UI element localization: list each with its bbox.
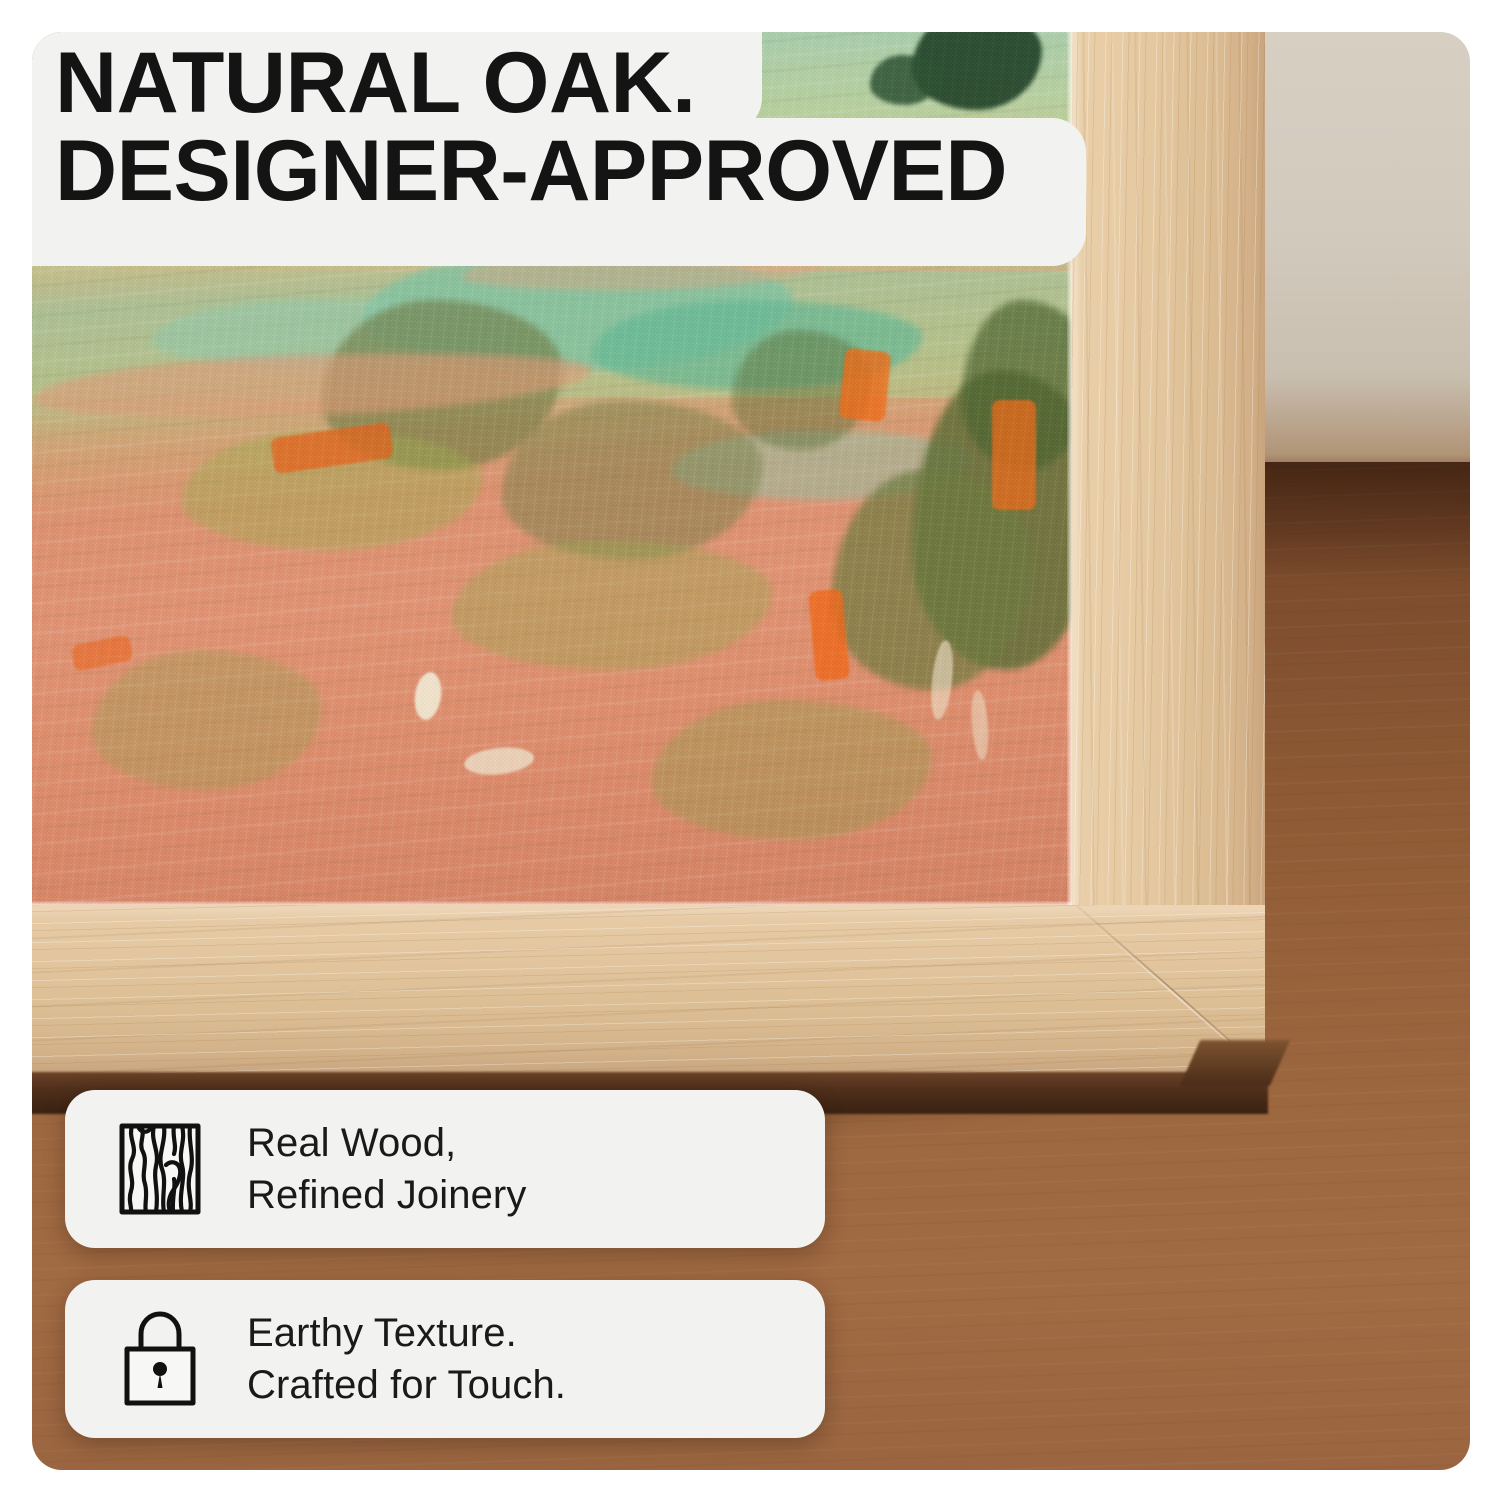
product-marketing-image: NATURAL OAK. DESIGNER-APPROVED — [0, 0, 1500, 1500]
feature-badge-line-2: Refined Joinery — [247, 1169, 526, 1221]
oak-frame-rail-bottom — [32, 905, 1265, 1075]
page-title: NATURAL OAK. DESIGNER-APPROVED — [55, 40, 1125, 215]
feature-badge-text: Earthy Texture. Crafted for Touch. — [247, 1307, 566, 1411]
feature-badge-list: Real Wood, Refined Joinery Earthy Textur… — [65, 1090, 825, 1470]
product-photo: NATURAL OAK. DESIGNER-APPROVED — [32, 32, 1470, 1470]
feature-badge-text: Real Wood, Refined Joinery — [247, 1117, 526, 1221]
feature-badge-line-1: Earthy Texture. — [247, 1307, 566, 1359]
oak-grain-texture — [32, 905, 1265, 1075]
feature-badge-real-wood: Real Wood, Refined Joinery — [65, 1090, 825, 1248]
headline-line-1: NATURAL OAK. — [55, 40, 1125, 128]
wood-grain-icon — [113, 1119, 207, 1219]
lock-icon — [113, 1309, 207, 1409]
headline-line-2: DESIGNER-APPROVED — [55, 128, 1125, 216]
feature-badge-line-1: Real Wood, — [247, 1117, 526, 1169]
feature-badge-line-2: Crafted for Touch. — [247, 1359, 566, 1411]
feature-badge-earthy-texture: Earthy Texture. Crafted for Touch. — [65, 1280, 825, 1438]
